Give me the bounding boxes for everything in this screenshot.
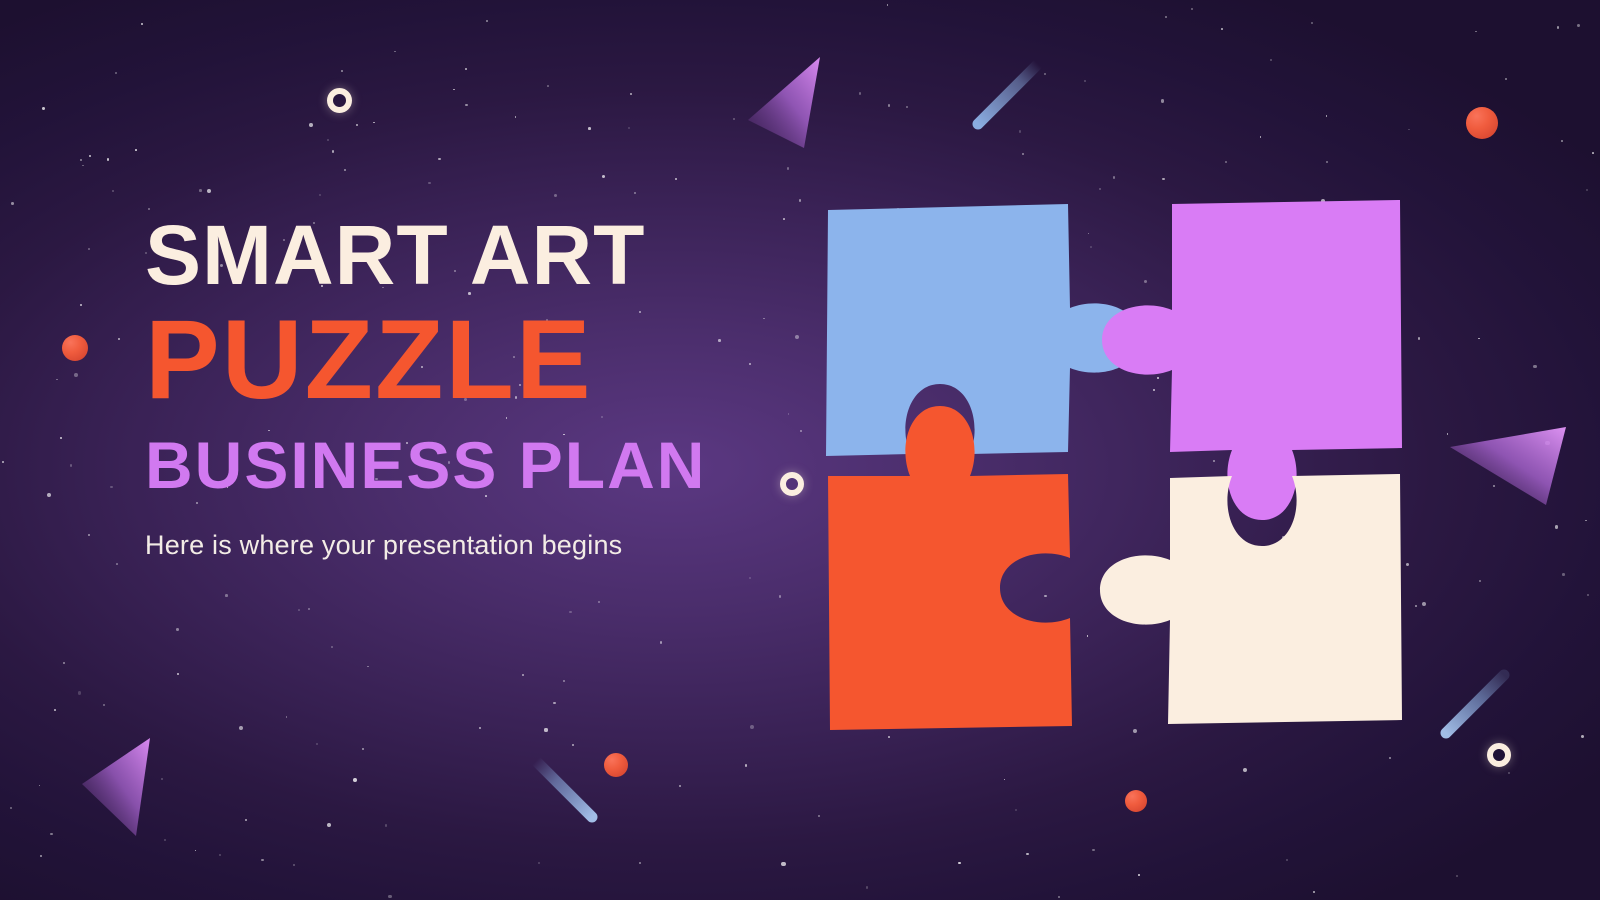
star-speck <box>115 72 118 75</box>
star-speck <box>544 728 547 731</box>
star-speck <box>733 118 735 120</box>
star-speck <box>553 702 556 705</box>
star-speck <box>118 338 120 340</box>
triangle-decoration-top <box>742 55 852 150</box>
star-speck <box>107 158 110 161</box>
star-speck <box>70 464 72 466</box>
star-speck <box>103 704 105 706</box>
star-speck <box>74 373 78 377</box>
star-speck <box>569 611 572 614</box>
star-speck <box>1221 28 1223 30</box>
star-speck <box>319 194 321 196</box>
sphere-decoration-top-right <box>1466 107 1498 139</box>
star-speck <box>1004 779 1006 781</box>
star-speck <box>1311 22 1313 24</box>
star-speck <box>63 662 65 664</box>
star-speck <box>628 127 630 129</box>
star-speck <box>750 725 754 729</box>
triangle-decoration-right <box>1448 425 1600 537</box>
puzzle-piece-top-left <box>826 204 1140 456</box>
star-speck <box>60 437 62 439</box>
star-speck <box>353 778 357 782</box>
star-speck <box>388 895 392 899</box>
star-speck <box>332 150 335 153</box>
star-speck <box>116 563 118 565</box>
star-speck <box>630 93 633 96</box>
star-speck <box>438 158 440 160</box>
puzzle-illustration <box>800 180 1420 760</box>
star-speck <box>356 124 358 126</box>
star-speck <box>1456 875 1458 877</box>
ring-decoration-bottom-right <box>1487 743 1511 767</box>
star-speck <box>78 691 82 695</box>
star-speck <box>56 379 58 381</box>
star-speck <box>634 192 636 194</box>
star-speck <box>54 709 56 711</box>
star-speck <box>80 159 82 161</box>
sphere-decoration-bottom-center <box>604 753 628 777</box>
star-speck <box>465 68 467 70</box>
star-speck <box>110 486 113 489</box>
star-speck <box>1577 24 1580 27</box>
star-speck <box>11 202 14 205</box>
star-speck <box>1138 874 1140 876</box>
star-speck <box>245 819 248 822</box>
star-speck <box>660 641 663 644</box>
star-speck <box>88 248 90 250</box>
star-speck <box>286 716 288 718</box>
star-speck <box>293 864 295 866</box>
star-speck <box>1084 80 1086 82</box>
star-speck <box>1225 161 1227 163</box>
star-speck <box>261 859 264 862</box>
star-speck <box>818 815 820 817</box>
star-speck <box>1562 573 1565 576</box>
star-speck <box>781 862 785 866</box>
star-speck <box>538 862 540 864</box>
star-speck <box>50 833 52 835</box>
star-speck <box>1592 152 1594 154</box>
comet-decoration-bottom-center <box>530 755 606 831</box>
star-speck <box>602 175 605 178</box>
star-speck <box>1113 176 1116 179</box>
star-speck <box>1581 735 1584 738</box>
star-speck <box>40 855 42 857</box>
star-speck <box>1022 153 1024 155</box>
star-speck <box>177 673 179 675</box>
star-speck <box>1561 140 1563 142</box>
title-line-2: PUZZLE <box>145 304 805 416</box>
star-speck <box>327 823 331 827</box>
star-speck <box>1586 189 1588 191</box>
star-speck <box>47 493 51 497</box>
star-speck <box>1260 136 1262 138</box>
star-speck <box>749 577 751 579</box>
title-line-3: BUSINESS PLAN <box>145 432 805 498</box>
star-speck <box>1479 580 1481 582</box>
star-speck <box>1326 115 1328 117</box>
star-speck <box>572 744 574 746</box>
star-speck <box>1326 161 1329 164</box>
star-speck <box>675 178 677 180</box>
star-speck <box>1270 59 1272 61</box>
star-speck <box>554 194 557 197</box>
star-speck <box>479 727 481 729</box>
star-speck <box>787 167 789 169</box>
star-speck <box>39 785 41 787</box>
comet-decoration-bottom-right <box>1438 665 1514 741</box>
star-speck <box>309 123 313 127</box>
star-speck <box>1422 602 1426 606</box>
star-speck <box>331 646 333 648</box>
comet-decoration-top <box>968 58 1044 134</box>
star-speck <box>779 595 782 598</box>
star-speck <box>1313 891 1315 893</box>
star-speck <box>89 155 91 157</box>
star-speck <box>745 764 747 766</box>
star-speck <box>1557 26 1560 29</box>
star-speck <box>239 726 243 730</box>
star-speck <box>679 785 681 787</box>
star-speck <box>225 594 228 597</box>
star-speck <box>515 116 517 118</box>
star-speck <box>1533 365 1536 368</box>
star-speck <box>522 674 524 676</box>
star-speck <box>906 106 908 108</box>
star-speck <box>367 666 369 668</box>
star-speck <box>866 886 868 888</box>
star-speck <box>327 139 329 141</box>
star-speck <box>1026 853 1029 856</box>
sphere-decoration-left <box>62 335 88 361</box>
ring-decoration-top-left <box>327 88 352 113</box>
star-speck <box>2 461 4 463</box>
star-speck <box>1286 859 1288 861</box>
star-speck <box>588 127 591 130</box>
star-speck <box>199 189 202 192</box>
star-speck <box>859 92 861 94</box>
star-speck <box>453 89 455 91</box>
star-speck <box>219 854 221 856</box>
star-speck <box>563 680 565 682</box>
triangle-decoration-bottom-left <box>78 730 198 840</box>
star-speck <box>1058 896 1060 898</box>
title-slide: SMART ART PUZZLE BUSINESS PLAN Here is w… <box>0 0 1600 900</box>
star-speck <box>486 20 488 22</box>
star-speck <box>42 107 45 110</box>
star-speck <box>1044 73 1047 76</box>
star-speck <box>1508 772 1510 774</box>
star-speck <box>1475 31 1477 33</box>
star-speck <box>82 165 84 167</box>
star-speck <box>385 824 388 827</box>
star-speck <box>1161 99 1165 103</box>
title-line-1: SMART ART <box>145 214 805 296</box>
star-speck <box>428 182 431 185</box>
star-speck <box>394 51 396 53</box>
star-speck <box>135 149 137 151</box>
star-speck <box>1015 809 1017 811</box>
slide-subtitle: Here is where your presentation begins <box>145 530 805 561</box>
star-speck <box>1408 129 1410 131</box>
star-speck <box>639 862 641 864</box>
star-speck <box>1191 8 1193 10</box>
star-speck <box>547 85 549 87</box>
star-speck <box>958 862 961 865</box>
star-speck <box>80 304 82 306</box>
star-speck <box>465 104 468 107</box>
star-speck <box>316 743 318 745</box>
star-speck <box>1505 78 1507 80</box>
star-speck <box>1243 768 1247 772</box>
star-speck <box>308 608 310 610</box>
star-speck <box>176 628 179 631</box>
star-speck <box>887 4 889 6</box>
star-speck <box>1587 594 1590 597</box>
star-speck <box>1165 16 1167 18</box>
puzzle-piece-top-right <box>1102 200 1402 520</box>
star-speck <box>362 748 364 750</box>
sphere-decoration-bottom-right <box>1125 790 1147 812</box>
star-speck <box>88 534 90 536</box>
star-speck <box>195 850 197 852</box>
star-speck <box>341 70 344 73</box>
star-speck <box>141 23 143 25</box>
star-speck <box>207 189 211 193</box>
star-speck <box>10 807 13 810</box>
star-speck <box>373 122 375 124</box>
star-speck <box>598 601 600 603</box>
star-speck <box>888 104 890 106</box>
star-speck <box>1478 338 1480 340</box>
star-speck <box>1092 849 1095 852</box>
star-speck <box>344 169 346 171</box>
star-speck <box>112 190 114 192</box>
star-speck <box>298 609 300 611</box>
title-text-block: SMART ART PUZZLE BUSINESS PLAN Here is w… <box>145 214 805 561</box>
